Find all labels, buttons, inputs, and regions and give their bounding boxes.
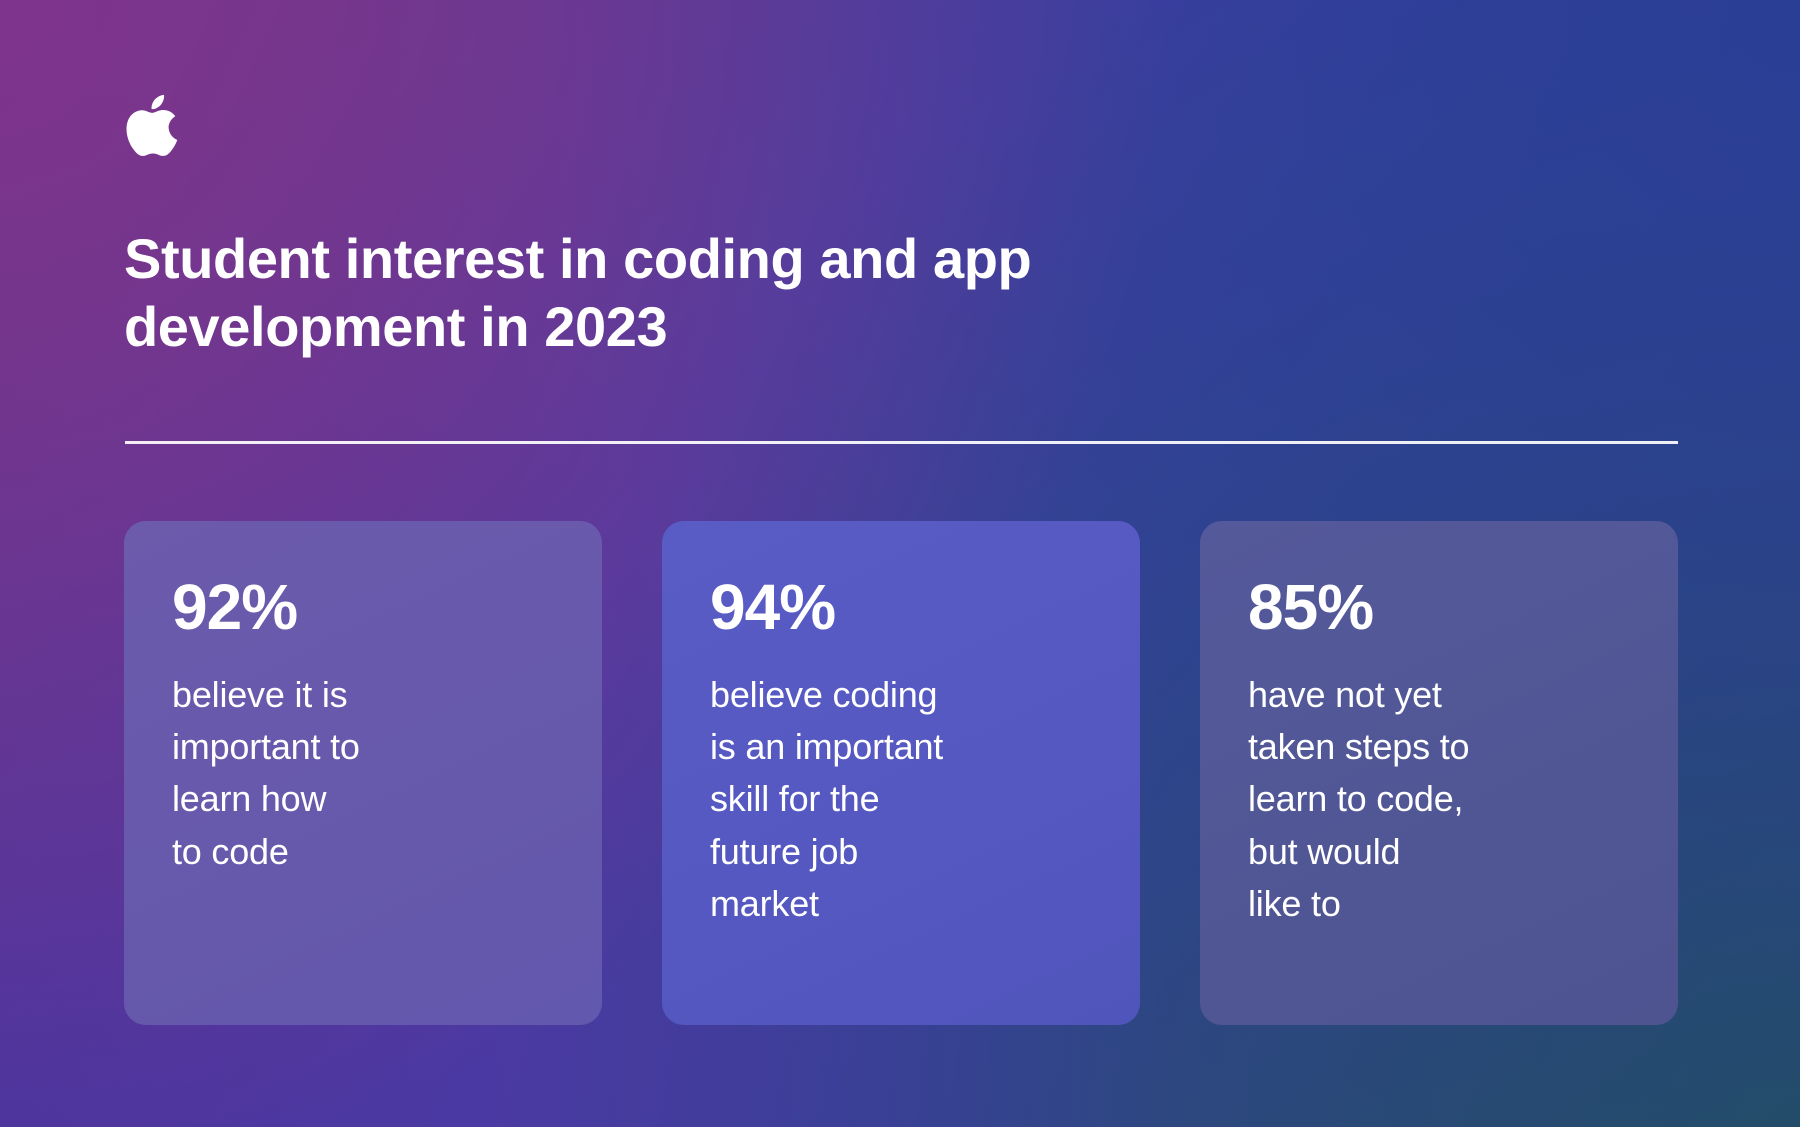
header-divider [125,441,1678,444]
stat-cards-row: 92% believe it is important to learn how… [124,521,1678,1025]
infographic-page: Student interest in coding and app devel… [0,0,1800,1127]
stat-card: 92% believe it is important to learn how… [124,521,602,1025]
stat-value: 85% [1248,575,1630,639]
stat-card: 85% have not yet taken steps to learn to… [1200,521,1678,1025]
apple-logo-icon [124,88,190,164]
stat-description: have not yet taken steps to learn to cod… [1248,669,1630,930]
stat-card: 94% believe coding is an important skill… [662,521,1140,1025]
stat-value: 94% [710,575,1092,639]
page-title: Student interest in coding and app devel… [124,225,1224,362]
stat-value: 92% [172,575,554,639]
stat-description: believe coding is an important skill for… [710,669,1092,930]
stat-description: believe it is important to learn how to … [172,669,554,878]
